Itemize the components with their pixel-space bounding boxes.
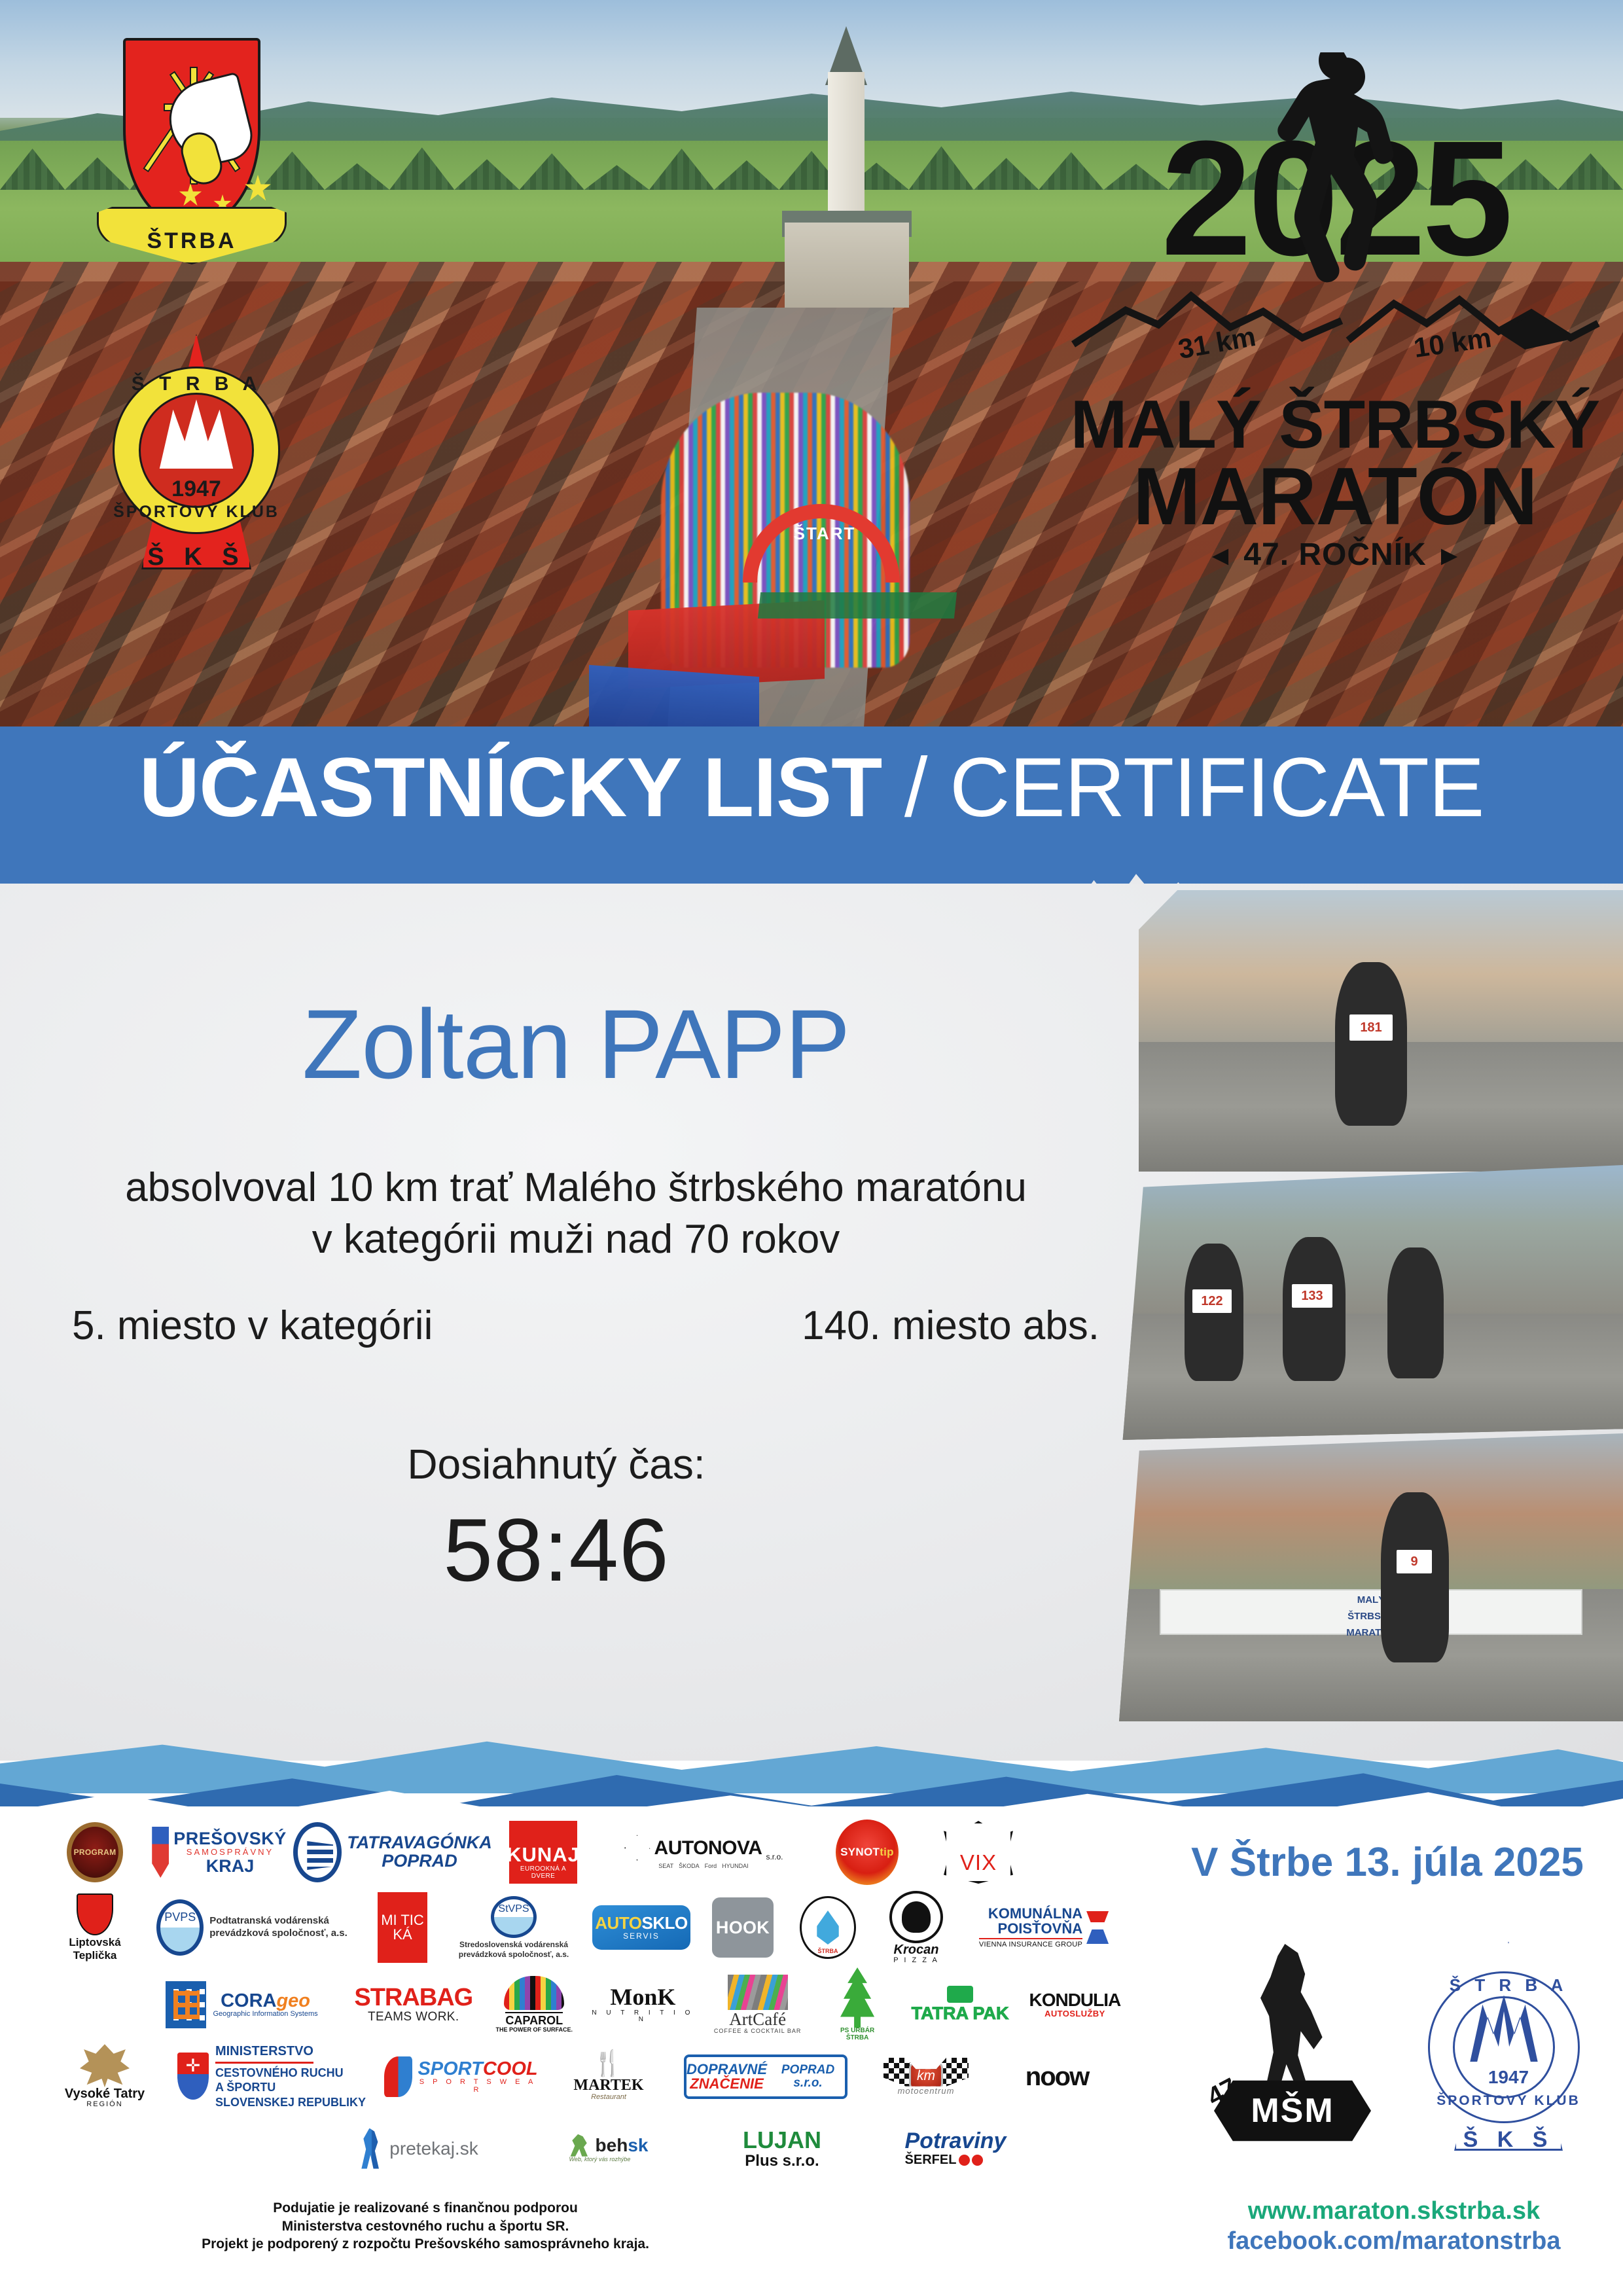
kp-sub: VIENNA INSURANCE GROUP xyxy=(979,1938,1082,1949)
monk-name: MonK xyxy=(610,1985,675,2010)
water-drop-icon xyxy=(813,1910,842,1945)
km-badge: km xyxy=(909,2062,943,2090)
sponsor-pretekaj-sk: pretekaj.sk xyxy=(321,2117,517,2179)
sportcool-name: SPORTCOOL xyxy=(418,2058,537,2079)
crest-ribbon-label: ŠTRBA xyxy=(99,228,285,254)
sks-club-logo: Š T R B A 1947 ŠPORTOVÝ KLUB Š K Š xyxy=(98,327,294,589)
pretekaj-name: pretekaj.sk xyxy=(389,2139,478,2158)
pvps-logo: PVPS Podtatranská vodárenská prevádzková… xyxy=(156,1899,348,1956)
potraviny-row2: ŠERFEL xyxy=(905,2153,984,2167)
martek-name: MARTEK xyxy=(573,2077,643,2094)
sponsor-sportcool: SPORTCOOL S P O R T S W E A R xyxy=(380,2042,543,2111)
issue-date: V Štrbe 13. júla 2025 xyxy=(1171,1839,1603,1886)
strabag-sub: TEAMS WORK. xyxy=(368,2011,459,2024)
lujan-name: LUJAN xyxy=(743,2128,821,2153)
sponsor-row-3: CORAgeo Geographic Information Systems S… xyxy=(46,1970,1132,2039)
ministerstvo-text: MINISTERSTVO CESTOVNÉHO RUCHU A ŠPORTU S… xyxy=(215,2043,366,2109)
tatrapak-name: TATRA PAK xyxy=(912,2004,1009,2022)
dz-line1: DOPRAVNÉ xyxy=(687,2062,767,2077)
stvps-line1: Stredoslovenská vodárenská xyxy=(459,1940,569,1949)
sponsor-autosklo-servis: AUTOSKLO SERVIS xyxy=(582,1892,700,1964)
arrow-left-icon: ◄ xyxy=(1198,540,1244,571)
artcafe-name: ArtCafé xyxy=(729,2010,786,2028)
sponsor-pvps: PVPS Podtatranská vodárenská prevádzková… xyxy=(144,1892,360,1964)
presovsky-text: PREŠOVSKÝ SAMOSPRÁVNY KRAJ xyxy=(173,1829,287,1875)
potraviny-name: Potraviny xyxy=(905,2130,1007,2153)
dz-text: DOPRAVNÉ ZNAČENIE xyxy=(687,2062,767,2091)
fineprint-line-1: Podujatie je realizované s finančnou pod… xyxy=(39,2199,811,2217)
sportcool-swoosh-icon xyxy=(384,2056,412,2097)
ministerstvo-logo: MINISTERSTVO CESTOVNÉHO RUCHU A ŠPORTU S… xyxy=(177,2043,366,2109)
sponsor-row-2: Liptovská Teplička PVPS Podtatranská vod… xyxy=(46,1892,1132,1964)
kunaj-sub: EUROOKNÁ A DVERE xyxy=(509,1866,577,1880)
sponsor-program-trencin: PROGRAM xyxy=(46,1820,144,1885)
cora-name: CORAgeo xyxy=(221,1990,310,2011)
sponsor-autonova: AUTONOVA s.r.o. SEAT ŠKODA Ford HYUNDAI xyxy=(596,1820,811,1885)
event-title-line2: MARATÓN xyxy=(1047,450,1623,543)
monk-sub: N U T R I T I O N xyxy=(588,2010,698,2024)
tatravagonka-text: TATRAVAGÓNKA POPRAD xyxy=(347,1834,491,1870)
title-english: / CERTIFICATE xyxy=(882,741,1484,834)
green-banner xyxy=(758,592,957,619)
lipt-line2: Teplička xyxy=(73,1950,117,1962)
church-nave xyxy=(785,223,909,308)
finish-time: 58:46 xyxy=(65,1499,1047,1601)
min-line1: MINISTERSTVO xyxy=(215,2043,313,2064)
grid-icon xyxy=(166,1981,206,2028)
photo-finish-line: MALÝ ŠTRBSKÝ MARATÓN 9 xyxy=(1119,1433,1623,1721)
checkered-flag-icon: km xyxy=(883,2058,969,2087)
strabag-logo: STRABAG TEAMS WORK. xyxy=(354,1985,473,2024)
contact-links: www.maraton.skstrba.sk facebook.com/mara… xyxy=(1171,2196,1616,2257)
autosklo-sub: SERVIS xyxy=(623,1932,660,1941)
sc-part2: COOL xyxy=(483,2058,538,2079)
fineprint-line-2: Ministerstva cestovného ruchu a športu S… xyxy=(39,2217,811,2236)
category-place: 5. miesto v kategórii xyxy=(72,1302,433,1349)
vix-logo: VIX xyxy=(944,1821,1013,1884)
sks2-year: 1947 xyxy=(1414,2067,1603,2088)
gift-icon xyxy=(947,1986,973,2003)
stvps-line2: prevádzková spoločnosť, a.s. xyxy=(459,1950,569,1959)
sponsor-kunaj: KUNAJ EUROOKNÁ A DVERE xyxy=(491,1820,596,1885)
autosklo-logo: AUTOSKLO SERVIS xyxy=(592,1905,690,1950)
artcafe-logo: ArtCafé COFFEE & COCKTAIL BAR xyxy=(714,1975,802,2035)
sponsor-miticka: MI TIC KÁ xyxy=(360,1892,445,1964)
sportcool-logo: SPORTCOOL S P O R T S W E A R xyxy=(384,2056,539,2097)
sks-arc-text: ŠPORTOVÝ KLUB xyxy=(98,503,294,522)
photo-female-runner: 181 xyxy=(1139,890,1623,1172)
town-shield-icon xyxy=(77,1893,113,1935)
runner-silhouette xyxy=(1335,962,1407,1126)
pvps-line2: prevádzková spoločnosť, a.s. xyxy=(209,1928,348,1940)
cora-part1: CORA xyxy=(221,1990,276,2011)
monk-logo: MonK N U T R I T I O N xyxy=(588,1985,698,2024)
absolute-place: 140. miesto abs. xyxy=(802,1302,1099,1349)
kunaj-name: KUNAJ xyxy=(507,1844,580,1866)
sponsor-monk-nutrition: MonK N U T R I T I O N xyxy=(582,1970,703,2039)
program-trencin-logo: PROGRAM xyxy=(67,1822,123,1882)
krocan-logo: Krocan P I Z Z A xyxy=(889,1891,943,1965)
sks2-abbr: Š K Š xyxy=(1414,2127,1603,2153)
hook-name: HOOK xyxy=(716,1918,770,1937)
elephant-icon xyxy=(504,1976,564,2010)
caparol-name: CAPAROL xyxy=(505,2012,563,2027)
crest-shield xyxy=(123,38,260,228)
km-sub: motocentrum xyxy=(898,2087,955,2096)
artcafe-swatch-icon xyxy=(728,1975,788,2010)
autonova-main: AUTONOVA s.r.o. xyxy=(624,1835,783,1861)
behsk-sub: Web, ktorý vás rozhýbe xyxy=(569,2157,631,2162)
kp-line2: POISŤOVŇA xyxy=(979,1921,1082,1936)
sponsor-stvps: StVPS Stredoslovenská vodárenská prevádz… xyxy=(445,1892,582,1964)
event-edition: 47. ROČNÍK xyxy=(1243,537,1426,572)
pretekaj-logo: pretekaj.sk xyxy=(359,2128,478,2169)
km-motocentrum-logo: km motocentrum xyxy=(883,2058,969,2096)
kp-line1: KOMUNÁLNA xyxy=(979,1906,1082,1921)
dz-line2: ZNAČENIE xyxy=(690,2075,763,2092)
sponsor-row-5: pretekaj.sk behsk Web, ktorý vás rozhýbe… xyxy=(46,2117,1132,2179)
participant-name: Zoltan PAPP xyxy=(65,995,1086,1093)
strabag-name: STRABAG xyxy=(354,1985,473,2011)
noow-logo: noow xyxy=(1026,2063,1088,2090)
min-line3: A ŠPORTU xyxy=(215,2080,366,2094)
sponsor-vysoke-tatry: Vysoké Tatry REGIÓN xyxy=(46,2042,164,2111)
msm-abbr: MŠM xyxy=(1214,2075,1371,2147)
sponsor-spacer-2 xyxy=(46,2117,321,2179)
sks2-top-text: Š T R B A xyxy=(1414,1975,1603,1996)
sponsor-tatrapak: TATRA PAK xyxy=(902,1970,1017,2039)
tatrapak-logo: TATRA PAK xyxy=(912,1986,1009,2022)
description-line-2: v kategórii muži nad 70 rokov xyxy=(52,1213,1099,1265)
sponsor-km-motocentrum: km motocentrum xyxy=(857,2042,995,2111)
caparol-logo: CAPAROL THE POWER OF SURFACE. xyxy=(496,1976,573,2033)
krocan-name: Krocan xyxy=(894,1943,939,1957)
vt-sub: REGIÓN xyxy=(86,2101,122,2109)
martek-sub: Restaurant xyxy=(591,2094,626,2102)
sponsor-artcafe: ArtCafé COFFEE & COCKTAIL BAR xyxy=(704,1970,812,2039)
stvps-text: Stredoslovenská vodárenská prevádzková s… xyxy=(459,1940,569,1959)
runner-silhouette xyxy=(1387,1247,1444,1378)
runner-bib-number: 122 xyxy=(1192,1289,1232,1313)
sponsor-synottip: SYNOTtip xyxy=(811,1820,923,1885)
title-slovak: ÚČASTNÍCKY LIST xyxy=(139,741,882,834)
pd-strba-logo: ŠTRBA xyxy=(800,1896,856,1959)
finish-banner: MALÝ ŠTRBSKÝ MARATÓN xyxy=(1160,1589,1583,1635)
sponsor-krocan-pizza: Krocan P I Z Z A xyxy=(870,1892,962,1964)
lujan-logo: LUJAN Plus s.r.o. xyxy=(743,2128,821,2169)
synottip-logo: SYNOTtip xyxy=(836,1820,899,1885)
kondulia-logo: KONDULIA AUTOSLUŽBY xyxy=(1029,1990,1120,2018)
runner-silhouette xyxy=(1381,1492,1449,1662)
sponsor-hook: HOOK xyxy=(700,1892,785,1964)
cora-part2: geo xyxy=(276,1990,310,2011)
edelweiss-icon xyxy=(80,2044,130,2087)
vysoke-tatry-logo: Vysoké Tatry REGIÓN xyxy=(65,2044,145,2109)
serfel-name: ŠERFEL xyxy=(905,2153,957,2167)
sportcool-text: SPORTCOOL S P O R T S W E A R xyxy=(417,2059,539,2094)
corageo-logo: CORAgeo Geographic Information Systems xyxy=(166,1981,317,2028)
finish-banner-line-3: MARATÓN xyxy=(1161,1623,1582,1640)
runner-bib-number: 133 xyxy=(1292,1284,1332,1308)
slovak-coat-of-arms-icon xyxy=(177,2053,209,2100)
time-label: Dosiahnutý čas: xyxy=(65,1440,1047,1488)
runner-bib-number: 9 xyxy=(1397,1550,1432,1573)
lujan-sub: Plus s.r.o. xyxy=(745,2153,819,2169)
sponsor-tatravagonka: TATRAVAGÓNKA POPRAD xyxy=(294,1820,491,1885)
starburst-icon xyxy=(624,1835,651,1861)
stvps-oval-icon: StVPS xyxy=(491,1896,537,1938)
sponsor-noow: noow xyxy=(995,2042,1119,2111)
crest-star-3 xyxy=(243,175,272,204)
brand-ford: Ford xyxy=(705,1863,717,1869)
photo-collage: 181 122 133 MALÝ ŠTRBSKÝ MARATÓN 9 xyxy=(1113,890,1623,1728)
kondulia-name: KONDULIA xyxy=(1029,1990,1120,2009)
behsk-logo: behsk Web, ktorý vás rozhýbe xyxy=(569,2134,649,2162)
tvp-line2: POPRAD xyxy=(347,1852,491,1871)
komunalna-text: KOMUNÁLNA POISŤOVŇA VIENNA INSURANCE GRO… xyxy=(979,1906,1082,1949)
tatravagonka-logo: TATRAVAGÓNKA POPRAD xyxy=(293,1822,491,1882)
sponsor-vix: VIX xyxy=(923,1820,1034,1885)
tvp-line1: TATRAVAGÓNKA xyxy=(347,1834,491,1852)
pvps-abbr: PVPS xyxy=(164,1911,196,1924)
liptovska-teplicka-logo: Liptovská Teplička xyxy=(69,1893,120,1962)
sponsor-lujan-plus: LUJAN Plus s.r.o. xyxy=(700,2117,864,2179)
dz-poprad: POPRAD s.r.o. xyxy=(771,2064,845,2090)
website-link[interactable]: www.maraton.skstrba.sk xyxy=(1171,2196,1616,2226)
hook-logo: HOOK xyxy=(712,1897,774,1958)
turkey-icon xyxy=(902,1901,931,1933)
min-line4: SLOVENSKEJ REPUBLIKY xyxy=(215,2095,366,2109)
photo-group-runners: 122 133 xyxy=(1113,1165,1623,1440)
achievement-description: absolvoval 10 km trať Malého štrbského m… xyxy=(52,1162,1099,1266)
sks-club-logo-footer: Š T R B A 1947 ŠPORTOVÝ KLUB Š K Š xyxy=(1414,1937,1603,2160)
miticka-name: MI TIC KÁ xyxy=(378,1913,427,1942)
synot-tip: tip xyxy=(880,1846,894,1858)
psk-line1: PREŠOVSKÝ xyxy=(173,1829,287,1848)
caparol-sub: THE POWER OF SURFACE. xyxy=(496,2027,573,2033)
kunaj-logo: KUNAJ EUROOKNÁ A DVERE xyxy=(509,1821,577,1884)
runner-icon xyxy=(569,2134,592,2157)
potraviny-logo: Potraviny ŠERFEL xyxy=(905,2130,1007,2167)
artcafe-sub: COFFEE & COCKTAIL BAR xyxy=(714,2028,802,2034)
sponsor-strabag: STRABAG TEAMS WORK. xyxy=(341,1970,486,2039)
sportcool-sub: S P O R T S W E A R xyxy=(417,2079,539,2094)
church xyxy=(815,26,878,301)
autosklo-part2: SKLO xyxy=(641,1913,687,1933)
strba-village-crest: ŠTRBA xyxy=(97,31,287,287)
red-dots-icon xyxy=(959,2155,983,2166)
corageo-text: CORAgeo Geographic Information Systems xyxy=(213,1991,317,2018)
autosklo-name: AUTOSKLO xyxy=(595,1914,687,1932)
start-arch-label: ŠTART xyxy=(776,524,874,544)
sks-top-text: Š T R B A xyxy=(98,373,294,395)
miticka-logo: MI TIC KÁ xyxy=(378,1892,427,1963)
sponsor-row-1: PROGRAM PREŠOVSKÝ SAMOSPRÁVNY KRAJ xyxy=(46,1820,1132,1885)
event-edition-row: ◄47. ROČNÍK► xyxy=(1047,537,1623,573)
urbar-sub: ŠTRBA xyxy=(846,2035,868,2042)
tatravagonka-oval-icon xyxy=(293,1822,342,1882)
mountain-outline-icon xyxy=(1067,281,1603,360)
msm-runner-icon xyxy=(1253,1944,1325,2094)
certificate-title: ÚČASTNÍCKY LIST / CERTIFICATE xyxy=(0,746,1623,830)
arrow-right-icon: ► xyxy=(1427,540,1473,571)
brand-seat: SEAT xyxy=(658,1863,673,1869)
sponsor-martek-restaurant: 🍴 MARTEK Restaurant xyxy=(543,2042,674,2111)
sponsor-caparol: CAPAROL THE POWER OF SURFACE. xyxy=(486,1970,582,2039)
sponsor-row-4: Vysoké Tatry REGIÓN MINISTERSTVO CESTOVN… xyxy=(46,2042,1132,2111)
runner-silhouette xyxy=(1283,1237,1346,1381)
synot-name: SYNOT xyxy=(840,1846,880,1858)
vt-name: Vysoké Tatry xyxy=(65,2087,145,2101)
sc-part1: SPORT xyxy=(418,2058,482,2079)
beh-part2: sk xyxy=(628,2135,648,2155)
sponsor-kondulia: KONDULIA AUTOSLUŽBY xyxy=(1018,1970,1132,2039)
runners-icon xyxy=(359,2128,384,2169)
pvps-line1: Podtatranská vodárenská xyxy=(209,1915,348,1928)
flag-icon xyxy=(152,1827,169,1878)
sponsor-ministerstvo: MINISTERSTVO CESTOVNÉHO RUCHU A ŠPORTU S… xyxy=(164,2042,380,2111)
turkey-oval-icon xyxy=(889,1891,943,1943)
psk-line2: SAMOSPRÁVNY xyxy=(173,1848,287,1857)
autonova-name: AUTONOVA xyxy=(654,1838,762,1859)
sponsor-dopravne-znacenie: DOPRAVNÉ ZNAČENIE POPRAD s.r.o. xyxy=(674,2042,857,2111)
kondulia-sub: AUTOSLUŽBY xyxy=(1044,2009,1105,2018)
facebook-link[interactable]: facebook.com/maratonstrba xyxy=(1171,2226,1616,2256)
sponsor-logos: PROGRAM PREŠOVSKÝ SAMOSPRÁVNY KRAJ xyxy=(46,1813,1132,2199)
event-logo: 2025 31 km 10 km MALÝ ŠTRBSKÝ MARATÓN ◄4… xyxy=(1047,39,1623,615)
funding-disclaimer: Podujatie je realizované s finančnou pod… xyxy=(39,2199,811,2253)
sponsor-beh-sk: behsk Web, ktorý vás rozhýbe xyxy=(517,2117,700,2179)
finish-banner-line-2: ŠTRBSKÝ xyxy=(1161,1607,1582,1623)
crest-ribbon: ŠTRBA xyxy=(97,207,287,264)
fineprint-line-3: Projekt je podporený z rozpočtu Prešovsk… xyxy=(39,2235,811,2253)
sponsor-pd-strba: ŠTRBA xyxy=(785,1892,870,1964)
autonova-logo: AUTONOVA s.r.o. SEAT ŠKODA Ford HYUNDAI xyxy=(624,1835,783,1869)
autosklo-part1: AUTO xyxy=(595,1913,641,1933)
sponsor-komunalna-poistovna: KOMUNÁLNA POISŤOVŇA VIENNA INSURANCE GRO… xyxy=(962,1892,1126,1964)
psk-line3: KRAJ xyxy=(173,1857,287,1875)
crest-star-1 xyxy=(178,183,203,208)
min-line2: CESTOVNÉHO RUCHU xyxy=(215,2066,366,2080)
dopravne-znacenie-logo: DOPRAVNÉ ZNAČENIE POPRAD s.r.o. xyxy=(684,2054,847,2099)
vix-name: VIX xyxy=(960,1852,997,1874)
behsk-name: behsk xyxy=(596,2136,649,2155)
beh-part1: beh xyxy=(596,2135,628,2155)
tree-icon xyxy=(837,1967,878,2028)
martek-logo: 🍴 MARTEK Restaurant xyxy=(573,2051,643,2102)
description-line-1: absolvoval 10 km trať Malého štrbského m… xyxy=(52,1162,1099,1213)
cora-sub: Geographic Information Systems xyxy=(213,2011,317,2018)
ps-urbar-logo: PS URBÁR ŠTRBA xyxy=(837,1967,878,2041)
stvps-logo: StVPS Stredoslovenská vodárenská prevádz… xyxy=(459,1896,569,1959)
msm-47-logo: 47. MŠM xyxy=(1207,1937,1378,2153)
komunalna-flag-icon xyxy=(1086,1911,1109,1944)
stvps-abbr: StVPS xyxy=(498,1904,529,1915)
krocan-sub: P I Z Z A xyxy=(893,1957,939,1965)
behsk-main: behsk xyxy=(569,2134,649,2157)
finish-banner-line-1: MALÝ xyxy=(1161,1590,1582,1607)
sponsor-spacer-1 xyxy=(46,1970,143,2039)
pvps-oval-icon: PVPS xyxy=(156,1899,204,1956)
program-label: PROGRAM xyxy=(74,1848,116,1857)
runner-bib-number: 181 xyxy=(1349,1014,1393,1041)
brand-skoda: ŠKODA xyxy=(679,1863,700,1869)
sponsor-corageo: CORAgeo Geographic Information Systems xyxy=(143,1970,341,2039)
noow-name: noow xyxy=(1026,2063,1088,2090)
sks-year: 1947 xyxy=(98,476,294,502)
sponsor-presovsky-kraj: PREŠOVSKÝ SAMOSPRÁVNY KRAJ xyxy=(144,1820,294,1885)
presovsky-kraj-logo: PREŠOVSKÝ SAMOSPRÁVNY KRAJ xyxy=(152,1827,287,1878)
brand-hyundai: HYUNDAI xyxy=(722,1863,749,1869)
pd-strba-label: ŠTRBA xyxy=(802,1948,854,1954)
certificate-page: ŠTART ŠTRBA Š T R B A 194 xyxy=(0,0,1623,2296)
komunalna-logo: KOMUNÁLNA POISŤOVŇA VIENNA INSURANCE GRO… xyxy=(979,1906,1109,1949)
autonova-car-brands: SEAT ŠKODA Ford HYUNDAI xyxy=(658,1863,748,1869)
sponsor-liptovska-teplicka: Liptovská Teplička xyxy=(46,1892,144,1964)
pvps-text: Podtatranská vodárenská prevádzková spol… xyxy=(209,1915,348,1940)
autonova-sro: s.r.o. xyxy=(766,1853,783,1861)
sks-abbr: Š K Š xyxy=(98,543,294,571)
placement-row: 5. miesto v kategórii 140. miesto abs. xyxy=(72,1302,1099,1349)
cutlery-icon: 🍴 xyxy=(592,2051,624,2077)
sks2-arc-text: ŠPORTOVÝ KLUB xyxy=(1414,2093,1603,2109)
sponsor-ps-urbar-strba: PS URBÁR ŠTRBA xyxy=(812,1970,903,2039)
sponsor-potraviny-serfel: Potraviny ŠERFEL xyxy=(864,2117,1047,2179)
lipt-line1: Liptovská xyxy=(69,1937,120,1948)
urbar-name: PS URBÁR xyxy=(840,2028,874,2035)
